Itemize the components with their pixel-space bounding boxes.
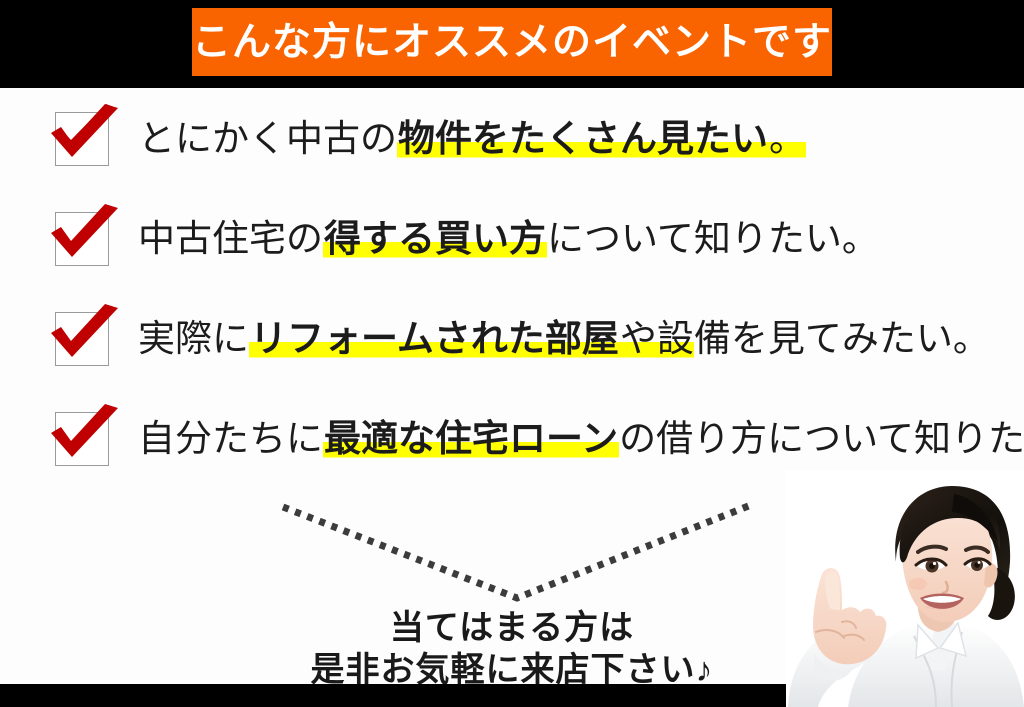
checklist-item-text: 中古住宅の得する買い方について知りたい。 xyxy=(138,210,879,268)
item-highlight: 物件をたくさん見たい xyxy=(397,118,769,159)
item-plain-suffix: の借り方について知りたい。 xyxy=(619,418,1024,459)
banner-title: こんな方にオススメのイベントです xyxy=(192,23,832,62)
dotted-chevron-down-icon xyxy=(265,492,765,612)
item-plain-suffix: 備を見てみたい。 xyxy=(694,318,990,359)
checklist-item-text: とにかく中古の物件をたくさん見たい。 xyxy=(138,110,806,168)
item-plain-suffix: について知りたい。 xyxy=(547,218,879,259)
item-highlight: 得する買い方 xyxy=(323,218,547,259)
item-highlight-tail: 。 xyxy=(769,118,806,159)
red-checkmark-icon xyxy=(48,204,122,274)
item-plain-prefix: 中古住宅の xyxy=(138,218,323,259)
item-plain-prefix: とにかく中古の xyxy=(138,118,397,159)
red-checkmark-icon xyxy=(48,404,122,474)
bottom-black-bar xyxy=(0,684,838,707)
item-highlight: リフォームされた部屋 xyxy=(249,318,620,359)
checklist-item[interactable]: 実際にリフォームされた部屋や設備を見てみたい。 xyxy=(0,304,1024,404)
woman-pointing-up-photo xyxy=(786,470,1024,707)
item-highlight-tail: や設 xyxy=(620,318,694,359)
woman-illustration xyxy=(786,470,1024,707)
header-banner: こんな方にオススメのイベントです xyxy=(192,8,832,76)
red-checkmark-icon xyxy=(48,104,122,174)
checklist: とにかく中古の物件をたくさん見たい。 中古住宅の得する買い方について知りたい。 … xyxy=(0,104,1024,504)
checklist-item-text: 実際にリフォームされた部屋や設備を見てみたい。 xyxy=(138,310,990,368)
checklist-item-text: 自分たちに最適な住宅ローンの借り方について知りたい。 xyxy=(138,410,1024,468)
checklist-item[interactable]: 中古住宅の得する買い方について知りたい。 xyxy=(0,204,1024,304)
promo-page: こんな方にオススメのイベントです とにかく中古の物件をたくさん見たい。 中古住宅… xyxy=(0,0,1024,707)
item-highlight: 最適な住宅ローン xyxy=(323,418,619,459)
item-plain-prefix: 自分たちに xyxy=(138,418,323,459)
red-checkmark-icon xyxy=(48,304,122,374)
item-plain-prefix: 実際に xyxy=(138,318,249,359)
checklist-item[interactable]: とにかく中古の物件をたくさん見たい。 xyxy=(0,104,1024,204)
